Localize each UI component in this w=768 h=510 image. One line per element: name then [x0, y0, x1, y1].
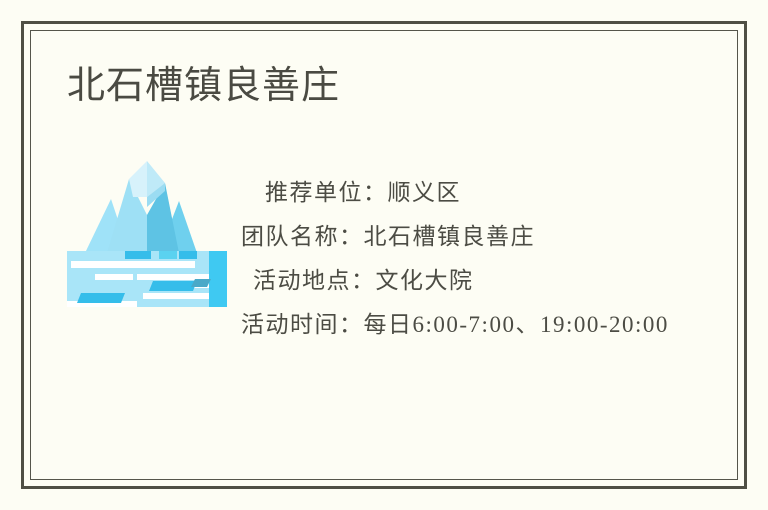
card-inner-border: 北石槽镇良善庄: [30, 30, 738, 480]
info-line-activity-time: 活动时间：每日6:00-7:00、19:00-20:00: [221, 303, 701, 347]
page-title: 北石槽镇良善庄: [67, 63, 340, 109]
info-line-team-name: 团队名称：北石槽镇良善庄: [221, 215, 711, 259]
info-line-recommending-unit: 推荐单位：顺义区: [221, 171, 711, 215]
info-block: 推荐单位：顺义区 团队名称：北石槽镇良善庄 活动地点：文化大院 活动时间：每日6…: [221, 171, 711, 347]
iceberg-illustration: [67, 157, 227, 307]
info-card: 北石槽镇良善庄: [21, 21, 747, 489]
info-line-activity-location: 活动地点：文化大院: [221, 259, 711, 303]
